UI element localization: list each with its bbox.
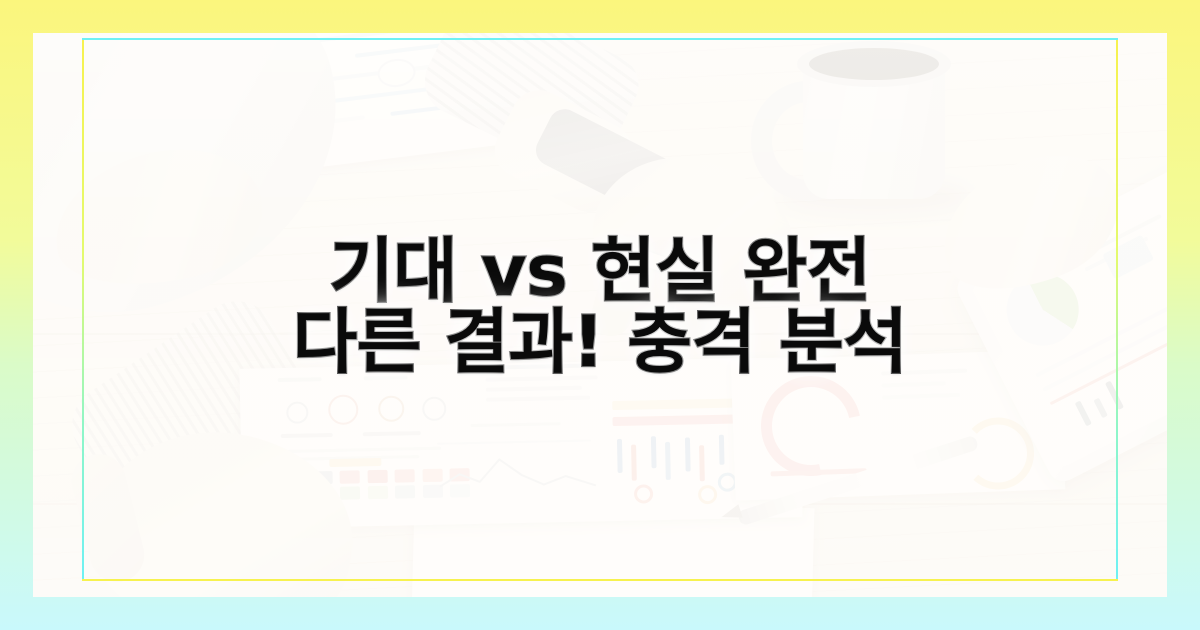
thumbnail-card: 기대 vs 현실 완전 다른 결과! 충격 분석 xyxy=(0,0,1200,630)
background-photo xyxy=(33,33,1167,597)
photo-gradient-overlay xyxy=(33,33,1167,597)
